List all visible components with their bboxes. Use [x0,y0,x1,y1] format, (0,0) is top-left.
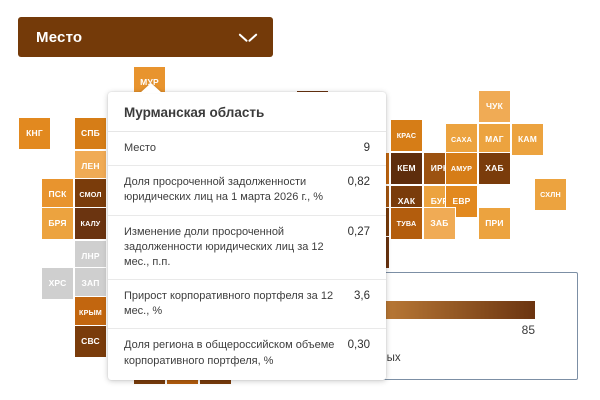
map-tile-при[interactable]: ПРИ [478,207,511,240]
tooltip-metric-value: 0,82 [348,175,370,188]
map-tile-label: КАМ [518,135,537,144]
tooltip-metric-label: Доля просроченной задолженности юридичес… [124,175,338,205]
map-tile-свс[interactable]: СВС [74,325,107,358]
map-tile-крас[interactable]: КРАС [390,119,423,152]
tooltip-arrow-icon [140,83,162,93]
map-tile-label: БРЯ [48,219,66,228]
map-tile-кнг[interactable]: КНГ [18,117,51,150]
map-tile-label: ПРИ [485,219,504,228]
map-tile-калу[interactable]: КАЛУ [74,207,107,240]
map-tile-label: КАЛУ [81,220,101,227]
map-tile-схлн[interactable]: СХЛН [534,178,567,211]
tooltip-metric-row: Доля просроченной задолженности юридичес… [108,166,386,215]
tooltip-metric-row: Прирост корпоративного портфеля за 12 ме… [108,280,386,329]
tooltip-metric-label: Место [124,141,354,156]
map-tile-label: ЧУК [486,102,503,111]
map-tile-заб[interactable]: ЗАБ [423,207,456,240]
map-tile-label: ПСК [48,190,66,199]
map-tile-хаб[interactable]: ХАБ [478,152,511,185]
map-tile-кам[interactable]: КАМ [511,123,544,156]
map-tile-label: ХРС [49,279,67,288]
map-tile-чук[interactable]: ЧУК [478,90,511,123]
map-tile-label: ЕВР [452,197,470,206]
map-tile-label: ЛЕН [81,162,99,171]
map-tile-label: ТУВА [397,220,417,227]
tooltip-metric-label: Изменение доли просроченной задолженност… [124,225,338,271]
map-tile-амур[interactable]: АМУР [445,152,478,185]
map-tile-label: СВС [81,337,100,346]
tooltip-metric-value: 0,30 [348,338,370,351]
region-tooltip: Мурманская область Место9Доля просроченн… [108,92,386,380]
map-tile-спб[interactable]: СПБ [74,117,107,150]
map-tile-label: ХАБ [485,164,504,173]
tooltip-metric-row: Место9 [108,132,386,166]
map-tile-label: СМОЛ [79,191,101,198]
tooltip-metric-value: 3,6 [354,289,370,302]
tooltip-metric-label: Доля региона в общероссийском объеме кор… [124,338,338,368]
map-tile-бря[interactable]: БРЯ [41,207,74,240]
tooltip-metric-row: Изменение доли просроченной задолженност… [108,216,386,281]
map-tile-label: КНГ [26,129,43,138]
legend-max-value: 85 [522,323,535,337]
tooltip-metric-row: Доля региона в общероссийском объеме кор… [108,329,386,377]
map-tile-label: СХЛН [540,191,561,198]
tile-map-widget: Место МУРКНГСПБНАОЛЕНТВЕПСКСМОЛМОСБРЯКАЛ… [0,0,600,400]
map-tile-label: ЗАБ [430,219,448,228]
tooltip-metric-label: Прирост корпоративного портфеля за 12 ме… [124,289,344,319]
tooltip-metric-value: 9 [364,141,370,154]
map-tile-label: МАГ [485,135,504,144]
map-tile-label: КРАС [397,132,417,139]
map-tile-label: СПБ [81,129,100,138]
map-tile-label: КРЫМ [79,309,102,316]
map-tile-label: ХАК [398,197,416,206]
tooltip-metric-list: Место9Доля просроченной задолженности юр… [108,132,386,378]
map-tile-label: КЕМ [397,164,416,173]
tooltip-metric-value: 0,27 [348,225,370,238]
map-tile-тува[interactable]: ТУВА [390,207,423,240]
map-tile-label: ЗАП [81,279,99,288]
tooltip-title: Мурманская область [108,92,386,132]
map-tile-label: ЛНР [81,252,99,261]
map-tile-кем[interactable]: КЕМ [390,152,423,185]
map-tile-хрс[interactable]: ХРС [41,267,74,300]
map-tile-label: САХА [451,136,472,143]
map-tile-label: АМУР [451,165,472,172]
